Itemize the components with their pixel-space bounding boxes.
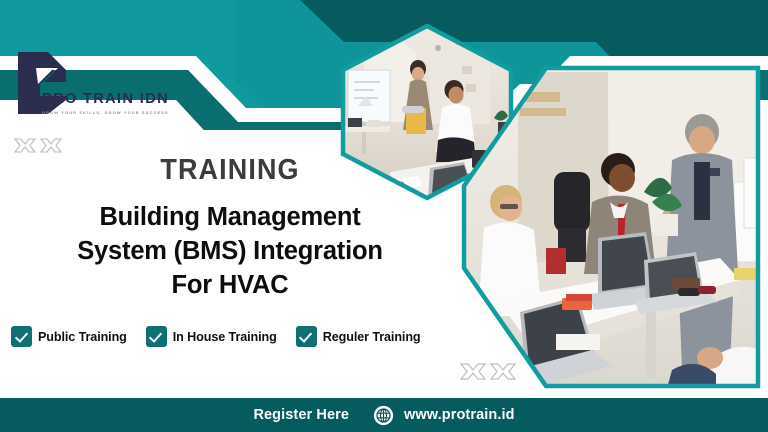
website-url[interactable]: www.protrain.id [404,407,515,423]
register-here-label[interactable]: Register Here [253,407,349,423]
footer-bar: Register Here www.protrain.id [0,398,768,432]
training-type-public[interactable]: Public Training [12,327,127,346]
logo-company-name: PRO TRAIN IDN [42,92,184,107]
photo-office-meeting [458,62,768,392]
title-line-2: System (BMS) Integration [0,235,460,269]
training-promo-banner: PRO TRAIN IDN GROW YOUR SKILLS, GROW YOU… [0,0,768,432]
training-type-label: Public Training [38,330,127,344]
logo-wordmark: PRO TRAIN IDN GROW YOUR SKILLS, GROW YOU… [42,92,184,115]
logo-tagline: GROW YOUR SKILLS, GROW YOUR SUCCESS [42,110,184,115]
checkbox-checked-icon[interactable] [147,327,166,346]
title-line-1: Building Management [0,201,460,235]
page-title: Building Management System (BMS) Integra… [0,201,460,303]
checkbox-checked-icon[interactable] [297,327,316,346]
training-type-label: Reguler Training [323,330,421,344]
training-type-in-house[interactable]: In House Training [147,327,277,346]
brand-logo[interactable]: PRO TRAIN IDN GROW YOUR SKILLS, GROW YOU… [14,48,184,126]
training-type-reguler[interactable]: Reguler Training [297,327,421,346]
footer-contact[interactable]: www.protrain.id [373,405,515,426]
training-type-label: In House Training [173,330,277,344]
title-line-3: For HVAC [0,269,460,303]
globe-icon [373,405,394,426]
training-type-list: Public Training In House Training Regule… [12,327,464,346]
checkbox-checked-icon[interactable] [12,327,31,346]
